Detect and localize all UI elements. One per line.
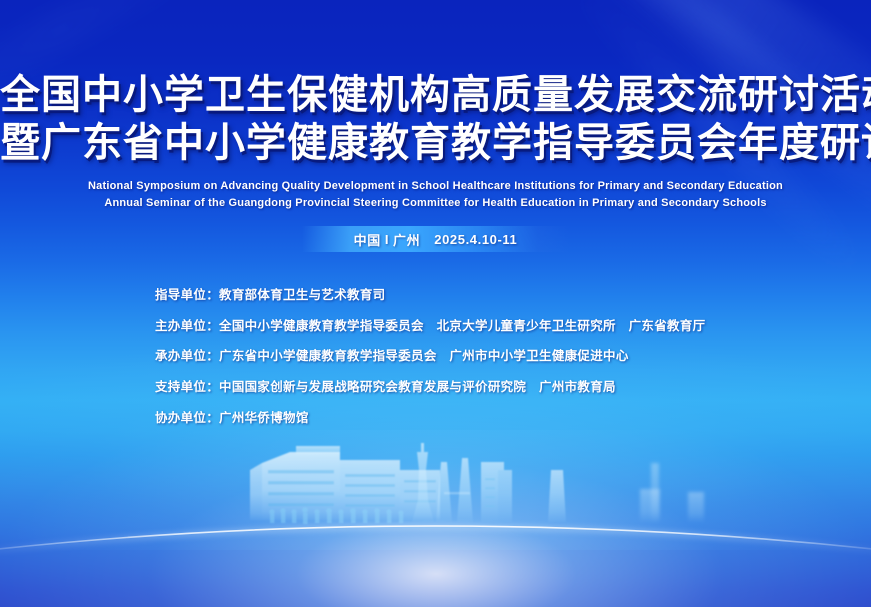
title-line-2: 暨广东省中小学健康教育教学指导委员会年度研讨活动 [0,122,871,164]
tower-tapered-2 [457,458,473,522]
organizer-row: 指导单位：教育部体育卫生与艺术教育司 [155,288,795,304]
date-location-badge: 中国 I 广州 2025.4.10-11 [302,226,570,252]
organizer-row: 主办单位：全国中小学健康教育教学指导委员会 北京大学儿童青少年卫生研究所 广东省… [155,319,795,335]
poster-english-subtitle: National Symposium on Advancing Quality … [0,178,871,212]
poster-title: 全国中小学卫生保健机构高质量发展交流研讨活动 暨广东省中小学健康教育教学指导委员… [0,74,871,165]
conference-poster: 全国中小学卫生保健机构高质量发展交流研讨活动 暨广东省中小学健康教育教学指导委员… [0,0,871,607]
canton-tower-silhouette [412,443,434,522]
organizer-label: 承办单位： [155,349,219,363]
organizer-value: 教育部体育卫生与艺术教育司 [219,288,385,302]
tower-tapered-1 [436,462,452,522]
organizer-value: 全国中小学健康教育教学指导委员会 北京大学儿童青少年卫生研究所 广东省教育厅 [219,319,705,333]
horizon-glow-center [0,430,871,607]
english-line-1: National Symposium on Advancing Quality … [0,178,871,195]
badge-city: 广州 [393,230,420,249]
badge-separator: I [381,232,393,247]
organizer-value: 广东省中小学健康教育教学指导委员会 广州市中小学卫生健康促进中心 [219,349,629,363]
badge-location: 中国 [354,230,381,249]
organizer-value: 中国国家创新与发展战略研究会教育发展与评价研究院 广州市教育局 [219,380,616,394]
organizer-row: 协办单位：广州华侨博物馆 [155,411,795,427]
badge-date: 2025.4.10-11 [420,232,517,247]
date-location-badge-wrap: 中国 I 广州 2025.4.10-11 [0,226,871,252]
organizer-label: 主办单位： [155,319,219,333]
title-line-1: 全国中小学卫生保健机构高质量发展交流研讨活动 [0,74,871,116]
organizer-label: 协办单位： [155,411,219,425]
organizer-label: 指导单位： [155,288,219,302]
organizer-value: 广州华侨博物馆 [219,411,309,425]
organizer-row: 支持单位：中国国家创新与发展战略研究会教育发展与评价研究院 广州市教育局 [155,380,795,396]
school-building-silhouette [250,446,440,524]
organizer-label: 支持单位： [155,380,219,394]
tower-stepped [481,462,512,522]
organizer-row: 承办单位：广东省中小学健康教育教学指导委员会 广州市中小学卫生健康促进中心 [155,349,795,365]
distant-towers-right [640,463,704,522]
organizer-list: 指导单位：教育部体育卫生与艺术教育司 主办单位：全国中小学健康教育教学指导委员会… [155,288,795,441]
english-line-2: Annual Seminar of the Guangdong Provinci… [0,195,871,212]
tower-mid [548,470,566,522]
